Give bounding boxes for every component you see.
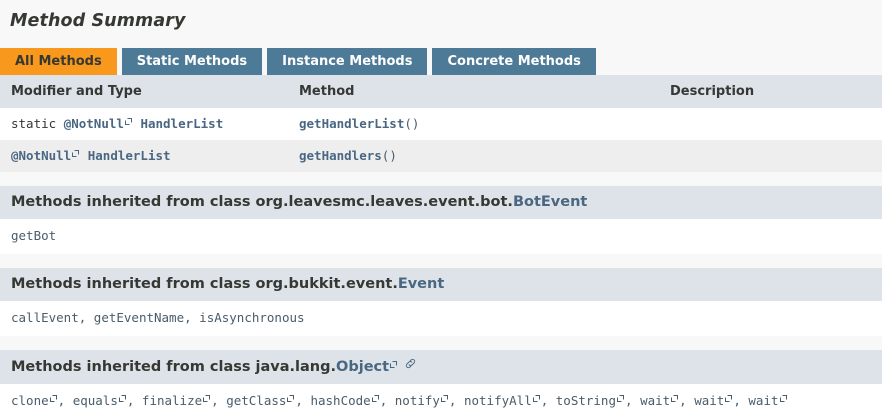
cell-modifier-and-type: static @NotNull HandlerList [0, 108, 288, 140]
inherited-methods-sections: Methods inherited from class org.leavesm… [0, 186, 882, 419]
cell-method: getHandlers() [288, 140, 658, 172]
external-link-icon [725, 396, 732, 403]
cell-description [658, 108, 882, 140]
external-link-icon [441, 396, 448, 403]
inherited-class-link[interactable]: Object [336, 359, 389, 375]
cell-modifier-and-type: @NotNull HandlerList [0, 140, 288, 172]
inherited-class-link[interactable]: Event [398, 276, 444, 292]
external-link-icon [372, 396, 379, 403]
table-body: static @NotNull HandlerListgetHandlerLis… [0, 108, 882, 172]
inherited-member-link[interactable]: callEvent [11, 310, 79, 325]
inherited-member-link[interactable]: clone [11, 393, 49, 408]
inherited-members-list: callEvent, getEventName, isAsynchronous [0, 301, 882, 336]
inherited-member-link[interactable]: wait [640, 393, 670, 408]
external-link-icon [671, 396, 678, 403]
inherited-member-link[interactable]: wait [748, 393, 778, 408]
method-link-gethandlerlist[interactable]: getHandlerList [299, 116, 404, 131]
inherited-member-link[interactable]: getClass [226, 393, 286, 408]
tab-all-methods[interactable]: All Methods [0, 48, 117, 75]
method-summary-page: Method Summary All MethodsStatic Methods… [0, 0, 882, 414]
external-link-icon [533, 396, 540, 403]
external-link-icon [203, 396, 210, 403]
method-filter-tabs: All MethodsStatic MethodsInstance Method… [0, 48, 882, 75]
inherited-section-header: Methods inherited from class org.leavesm… [0, 186, 882, 219]
external-link-icon [390, 362, 397, 369]
column-header-description: Description [658, 75, 882, 108]
inherited-prefix-text: Methods inherited from class [11, 276, 256, 292]
column-header-modifier-and-type: Modifier and Type [0, 75, 288, 108]
method-summary-table: Modifier and Type Method Description sta… [0, 75, 882, 172]
column-header-method: Method [288, 75, 658, 108]
tab-instance-methods[interactable]: Instance Methods [267, 48, 427, 75]
inherited-section-header: Methods inherited from class java.lang.O… [0, 350, 882, 384]
annotation-link-notnull[interactable]: @NotNull [64, 116, 124, 131]
external-link-icon [287, 396, 294, 403]
inherited-prefix-text: Methods inherited from class [11, 359, 256, 375]
inherited-member-link[interactable]: hashCode [310, 393, 370, 408]
table-header-row: Modifier and Type Method Description [0, 75, 882, 108]
tab-concrete-methods[interactable]: Concrete Methods [432, 48, 595, 75]
external-link-icon [119, 396, 126, 403]
external-link-icon [125, 119, 132, 126]
external-link-icon [780, 396, 787, 403]
method-link-gethandlers[interactable]: getHandlers [299, 148, 382, 163]
inherited-section-header: Methods inherited from class org.bukkit.… [0, 268, 882, 301]
tab-static-methods[interactable]: Static Methods [122, 48, 262, 75]
cell-method: getHandlerList() [288, 108, 658, 140]
inherited-member-link[interactable]: toString [556, 393, 616, 408]
return-type-link[interactable]: HandlerList [140, 116, 223, 131]
return-type-link[interactable]: HandlerList [88, 148, 171, 163]
external-link-icon [50, 396, 57, 403]
inherited-prefix-text: Methods inherited from class [11, 194, 256, 210]
table-row: @NotNull HandlerListgetHandlers() [0, 140, 882, 172]
inherited-class-link[interactable]: BotEvent [513, 194, 587, 210]
inherited-member-link[interactable]: notifyAll [464, 393, 532, 408]
inherited-section: Methods inherited from class java.lang.O… [0, 350, 882, 419]
inherited-package-name: java.lang. [256, 359, 336, 375]
link-icon[interactable] [404, 357, 417, 370]
annotation-link-notnull[interactable]: @NotNull [11, 148, 71, 163]
inherited-member-link[interactable]: getEventName [94, 310, 184, 325]
inherited-package-name: org.bukkit.event. [256, 276, 398, 292]
method-parameters: () [382, 148, 397, 163]
inherited-section: Methods inherited from class org.leavesm… [0, 186, 882, 254]
page-title: Method Summary [0, 0, 882, 31]
external-link-icon [617, 396, 624, 403]
method-parameters: () [404, 116, 419, 131]
inherited-member-link[interactable]: finalize [142, 393, 202, 408]
inherited-section: Methods inherited from class org.bukkit.… [0, 268, 882, 336]
modifier-keyword: static [11, 116, 64, 131]
external-link-icon [72, 151, 79, 158]
inherited-member-link[interactable]: getBot [11, 228, 56, 243]
cell-description [658, 140, 882, 172]
table-row: static @NotNull HandlerListgetHandlerLis… [0, 108, 882, 140]
inherited-members-list: getBot [0, 219, 882, 254]
inherited-member-link[interactable]: wait [694, 393, 724, 408]
inherited-member-link[interactable]: isAsynchronous [199, 310, 304, 325]
inherited-member-link[interactable]: notify [395, 393, 440, 408]
inherited-package-name: org.leavesmc.leaves.event.bot. [256, 194, 513, 210]
inherited-member-link[interactable]: equals [73, 393, 118, 408]
